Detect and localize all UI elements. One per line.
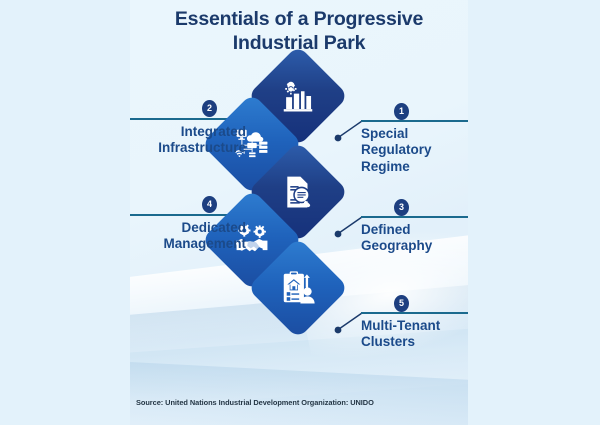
label-2-line-1: Integrated [130, 124, 246, 140]
badge-4: 4 [202, 196, 217, 213]
badge-2: 2 [202, 100, 217, 117]
label-3-line-1: Defined [361, 222, 468, 238]
badge-5: 5 [394, 295, 409, 312]
label-4-line-2: Management [130, 236, 246, 252]
label-multi-tenant-clusters: Multi-Tenant Clusters [361, 318, 468, 351]
infographic-stage: Essentials of a Progressive Industrial P… [0, 0, 600, 425]
badge-1: 1 [394, 103, 409, 120]
label-defined-geography: Defined Geography [361, 222, 468, 255]
source-note: Source: United Nations Industrial Develo… [136, 398, 466, 407]
clipboard-house-person-icon [278, 268, 318, 308]
badge-3: 3 [394, 199, 409, 216]
label-dedicated-management: Dedicated Management [130, 220, 246, 253]
label-1-line-3: Regime [361, 159, 468, 175]
label-1-line-2: Regulatory [361, 142, 468, 158]
factory-gear-icon [278, 76, 318, 116]
label-1-line-1: Special [361, 126, 468, 142]
label-integrated-infrastructure: Integrated Infrastructure [130, 124, 246, 157]
label-5-line-2: Clusters [361, 334, 468, 350]
label-4-line-1: Dedicated [130, 220, 246, 236]
infographic-panel: Essentials of a Progressive Industrial P… [130, 0, 468, 425]
label-3-line-2: Geography [361, 238, 468, 254]
label-5-line-1: Multi-Tenant [361, 318, 468, 334]
background-wave-4 [130, 361, 468, 425]
title-line-1: Essentials of a Progressive [130, 8, 468, 32]
label-special-regulatory-regime: Special Regulatory Regime [361, 126, 468, 175]
label-2-line-2: Infrastructure [130, 140, 246, 156]
document-magnifier-icon [278, 172, 318, 212]
